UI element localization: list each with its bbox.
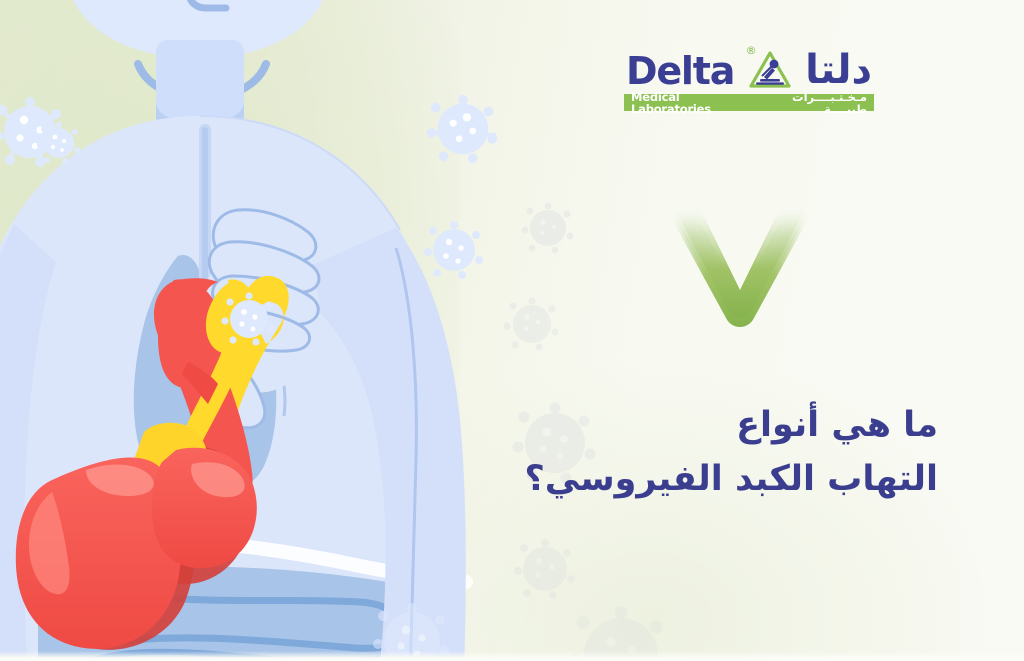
logo-brand-en: Delta <box>626 52 734 90</box>
microscope-triangle-icon: ® <box>748 48 792 90</box>
green-v-check-icon <box>660 206 820 341</box>
headline-line-2: التهاب الكبد الفيروسي؟ <box>398 452 938 506</box>
logo-tagline-en: Medical Laboratories <box>631 91 754 115</box>
delta-logo[interactable]: Delta ® دلتا Medical Laboratories مـ <box>624 44 874 111</box>
poster-canvas: Delta ® دلتا Medical Laboratories مـ <box>0 0 1024 661</box>
bottom-edge-strip <box>0 651 1024 661</box>
human-body-silhouette-icon <box>0 0 520 661</box>
registered-trademark-icon: ® <box>746 45 757 56</box>
headline-line-1: ما هي أنواع <box>398 398 938 452</box>
headline-question: ما هي أنواع التهاب الكبد الفيروسي؟ <box>398 398 938 507</box>
logo-tagline-bar: Medical Laboratories مـخـتـبــــرات طبيـ… <box>624 94 874 111</box>
logo-top-row: Delta ® دلتا <box>624 44 874 90</box>
logo-brand-ar: دلتا <box>805 50 872 90</box>
logo-tagline-ar: مـخـتـبــــرات طبيــــة <box>754 91 867 115</box>
